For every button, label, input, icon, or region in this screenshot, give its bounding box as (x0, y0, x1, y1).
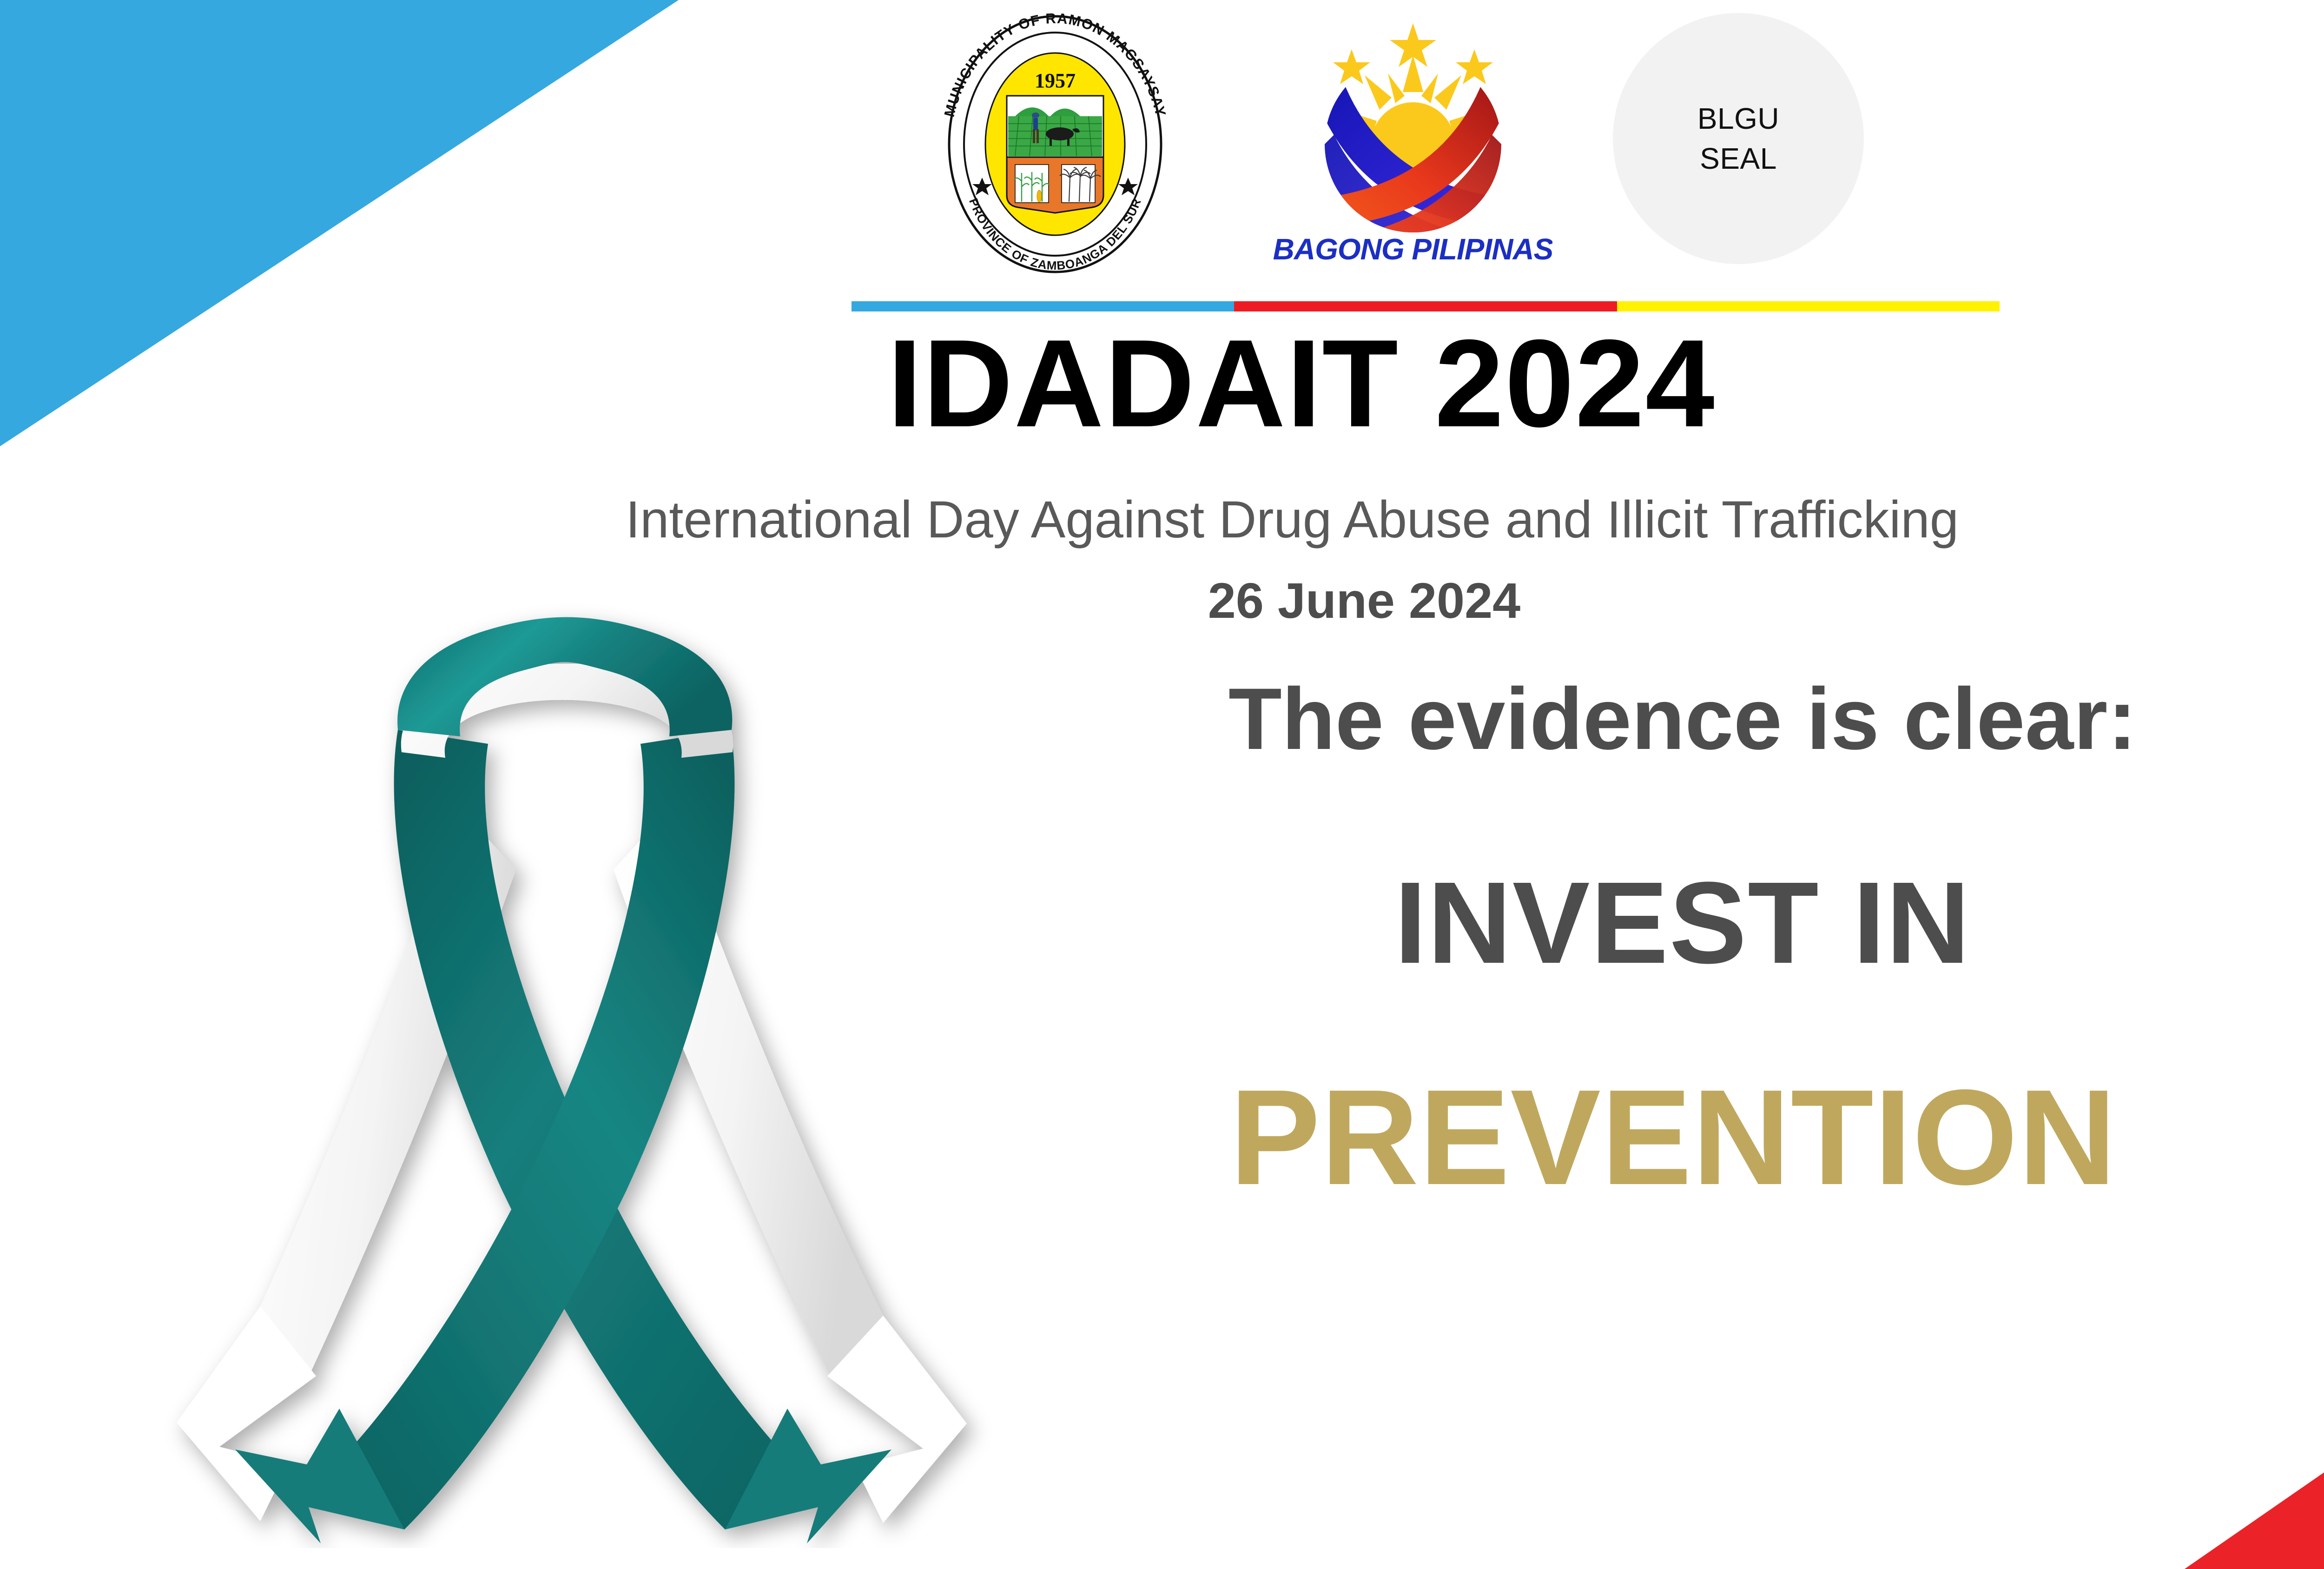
municipal-seal-icon: MUNICIPALITY OF RAMON MAGSAYSAY PROVINCE… (916, 5, 1195, 284)
tricolor-segment-blue (852, 301, 1234, 311)
tricolor-segment-red (1234, 301, 1617, 311)
event-subtitle: International Day Against Drug Abuse and… (0, 494, 2324, 546)
awareness-ribbon-icon (121, 590, 1004, 1548)
bagong-pilipinas-label: BAGONG PILIPINAS (1274, 232, 1552, 266)
tricolor-segment-yellow (1617, 301, 2000, 311)
blgu-seal-placeholder: BLGU SEAL (1613, 13, 1864, 264)
bagong-pilipinas-icon: BAGONG PILIPINAS (1274, 5, 1552, 284)
poster-canvas: MUNICIPALITY OF RAMON MAGSAYSAY PROVINCE… (0, 0, 2324, 1569)
blgu-seal-line1: BLGU (1697, 104, 1779, 133)
blgu-seal-line2: SEAL (1700, 144, 1777, 173)
svg-text:1957: 1957 (1035, 69, 1076, 92)
corner-triangle-bottom-right (2185, 1151, 2324, 1569)
tricolor-divider (852, 301, 2000, 311)
logo-row: MUNICIPALITY OF RAMON MAGSAYSAY PROVINCE… (846, 5, 1971, 288)
page-title: IDADAIT 2024 (0, 321, 2324, 445)
